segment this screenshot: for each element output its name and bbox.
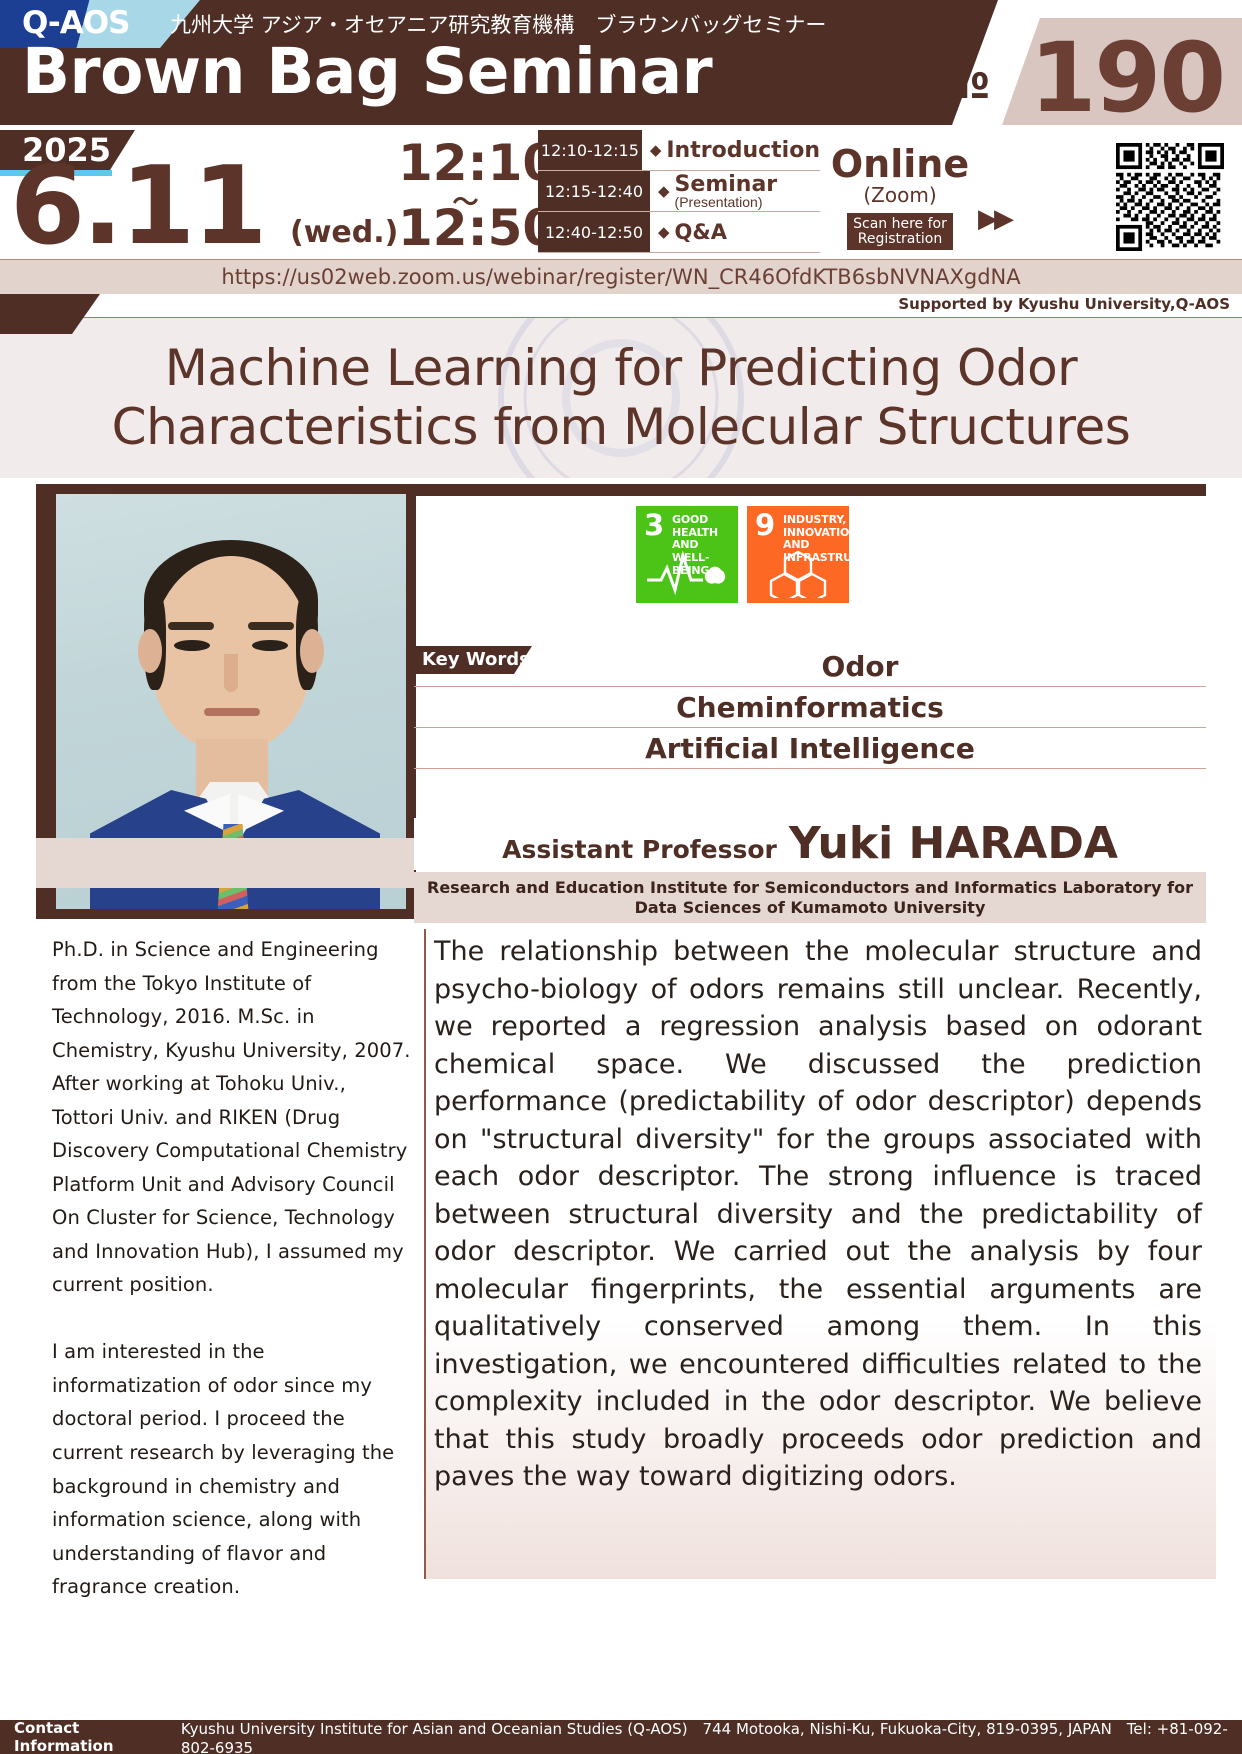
keyword-row: Odor <box>414 646 1206 687</box>
speaker-affiliation: Research and Education Institute for Sem… <box>414 872 1206 924</box>
scan-line-2: Registration <box>853 232 947 247</box>
speaker-bio: Ph.D. in Science and Engineering from th… <box>52 933 412 1604</box>
supported-by-text: Supported by Kyushu University,Q-AOS <box>898 295 1230 313</box>
event-date: 6.11 <box>10 153 264 261</box>
keywords-list: Odor Cheminformatics Artificial Intellig… <box>414 646 1206 769</box>
agenda-row: 12:40-12:50 ◆ Q&A <box>538 212 820 253</box>
top-accent-bar <box>416 484 1206 496</box>
sdg-label-line-1: GOOD HEALTH <box>672 514 738 539</box>
keyword-row: Cheminformatics <box>414 687 1206 728</box>
photo-brow-right <box>248 622 294 630</box>
supported-by-bar: Supported by Kyushu University,Q-AOS <box>0 294 1242 318</box>
photo-nose <box>224 654 238 692</box>
speaker-academic-title: Assistant Professor <box>502 835 777 864</box>
photo-eye-right <box>252 640 288 651</box>
poster-header: Q-AOS 九州大学 アジア・オセアニア研究教育機構 ブラウンバッグセミナー B… <box>0 0 1242 125</box>
poster-body-section: Ph.D. in Science and Engineering from th… <box>0 923 1242 1598</box>
agenda-item-sub: (Presentation) <box>675 194 778 210</box>
poster-main-title: Brown Bag Seminar <box>22 40 712 103</box>
speaker-name: Yuki HARADA <box>789 818 1118 869</box>
event-time-start: 12:10 <box>398 138 533 188</box>
seminar-no-label: № <box>930 52 990 110</box>
agenda-item-block: Seminar (Presentation) <box>675 172 778 210</box>
event-time-end: 12:50 <box>398 203 533 253</box>
seminar-title-line-2: Characteristics from Molecular Structure… <box>112 398 1131 457</box>
venue-block: Online (Zoom) Scan here for Registration <box>830 145 970 250</box>
arrow-right-icon: ▶▶ <box>978 203 1010 234</box>
seminar-no-number: 190 <box>1030 22 1224 125</box>
seminar-title-line-1: Machine Learning for Predicting Odor <box>165 339 1077 398</box>
sdg-goal-3-icon: 3 GOOD HEALTH AND WELL-BEING <box>636 506 738 603</box>
speaker-side-beige-band <box>36 838 414 888</box>
agenda-row: 12:15-12:40 ◆ Seminar (Presentation) <box>538 171 820 212</box>
agenda-item-name: Introduction <box>666 138 820 163</box>
keyword-item: Cheminformatics <box>676 691 944 724</box>
cubes-icon <box>747 550 849 598</box>
photo-eye-left <box>174 640 210 651</box>
seminar-poster: Q-AOS 九州大学 アジア・オセアニア研究教育機構 ブラウンバッグセミナー B… <box>0 0 1242 1754</box>
photo-mouth <box>204 708 260 716</box>
agenda-label: ◆ Introduction <box>642 130 820 171</box>
qr-code-icon[interactable] <box>1116 143 1224 251</box>
keyword-item: Odor <box>822 650 899 683</box>
agenda-time: 12:10-12:15 <box>538 130 642 171</box>
sdg-number: 3 <box>644 511 664 540</box>
sdg-label-line-1: INDUSTRY, INNOVATION <box>783 514 891 539</box>
sdg-icons-group: 3 GOOD HEALTH AND WELL-BEING 9 INDUSTRY,… <box>636 506 849 603</box>
qaos-logo-text: Q-AOS <box>22 5 129 41</box>
photo-ear-right <box>300 629 324 673</box>
agenda-time: 12:40-12:50 <box>538 212 650 253</box>
photo-ear-left <box>138 629 162 673</box>
registration-url[interactable]: https://us02web.zoom.us/webinar/register… <box>221 265 1020 289</box>
abstract-panel: The relationship between the molecular s… <box>424 929 1216 1579</box>
keyword-row: Artificial Intelligence <box>414 728 1206 769</box>
agenda-table: 12:10-12:15 ◆ Introduction 12:15-12:40 ◆… <box>538 130 820 255</box>
event-weekday: (wed.) <box>290 215 398 250</box>
venue-name: Online <box>830 145 970 183</box>
diamond-bullet-icon: ◆ <box>658 223 670 241</box>
keyword-item: Artificial Intelligence <box>645 732 975 765</box>
venue-platform: (Zoom) <box>830 183 970 207</box>
agenda-item-name: Q&A <box>675 220 727 244</box>
seminar-title-band: ASIAN STUDIES Machine Learning for Predi… <box>0 318 1242 478</box>
agenda-label: ◆ Q&A <box>650 212 820 253</box>
date-time-strip: 2025 6.11 (wed.) 12:10 〜 12:50 12:10-12:… <box>0 125 1242 260</box>
diamond-bullet-icon: ◆ <box>650 141 662 159</box>
speaker-name-row: Assistant Professor Yuki HARADA <box>414 818 1206 870</box>
diamond-bullet-icon: ◆ <box>658 182 670 200</box>
contact-information-label: Contact Information <box>0 1719 181 1754</box>
agenda-row: 12:10-12:15 ◆ Introduction <box>538 130 820 171</box>
heartbeat-icon <box>636 550 738 598</box>
contact-information-text: Kyushu University Institute for Asian an… <box>181 1718 1242 1754</box>
scan-line-1: Scan here for <box>853 217 947 232</box>
abstract-text: The relationship between the molecular s… <box>426 929 1216 1496</box>
poster-footer: Contact Information Kyushu University In… <box>0 1720 1242 1754</box>
scan-registration-badge: Scan here for Registration <box>847 213 953 250</box>
sdg-number: 9 <box>755 511 775 540</box>
sdg-goal-9-icon: 9 INDUSTRY, INNOVATION AND INFRASTRUCTUR… <box>747 506 849 603</box>
agenda-time: 12:15-12:40 <box>538 171 650 212</box>
photo-brow-left <box>168 622 214 630</box>
agenda-label: ◆ Seminar (Presentation) <box>650 171 820 212</box>
